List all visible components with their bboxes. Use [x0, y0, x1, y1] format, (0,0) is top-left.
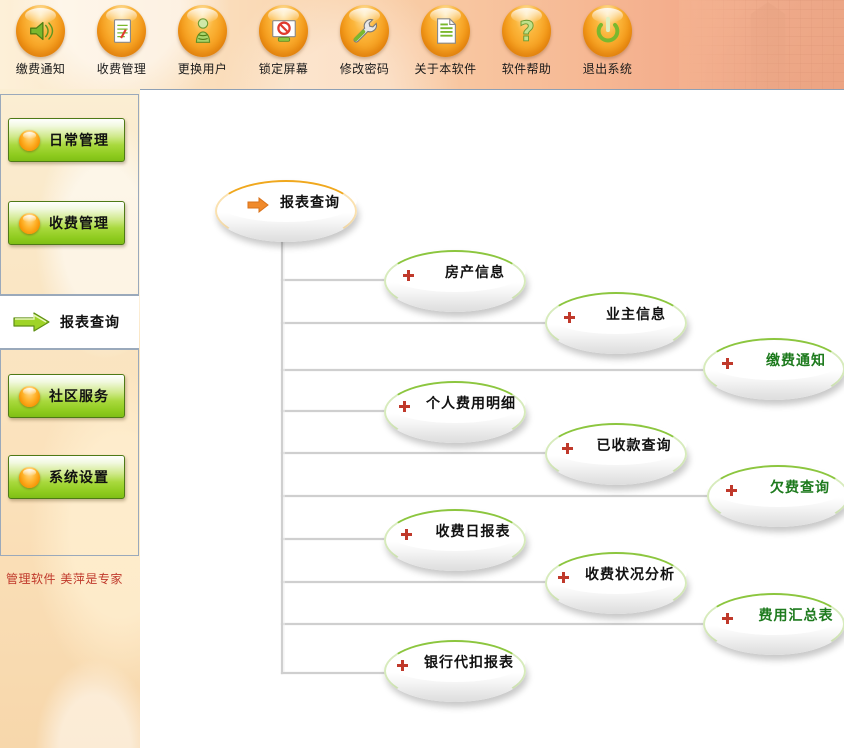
toolbar-button-payment-notice[interactable]: 缴费通知	[0, 0, 81, 89]
top-toolbar: 缴费通知 收费管理	[0, 0, 844, 89]
left-sidebar: 日常管理 收费管理 报表查询 社区服务 系统设置 管理软件 美萍是专家	[0, 89, 141, 748]
node-label: 个人费用明细	[384, 381, 542, 424]
sidebar-item-daily-management[interactable]: 日常管理	[8, 118, 125, 162]
toolbar-button-change-password[interactable]: 修改密码	[324, 0, 405, 89]
sidebar-item-label: 社区服务	[40, 386, 124, 406]
diagram-node-payment-notice[interactable]: 缴费通知	[703, 338, 844, 400]
node-label: 房产信息	[384, 250, 546, 293]
svg-text:?: ?	[519, 16, 535, 46]
toolbar-button-lock-screen[interactable]: 锁定屏幕	[243, 0, 324, 89]
node-label: 缴费通知	[703, 338, 844, 381]
node-label: 费用汇总表	[703, 593, 844, 636]
toolbar-button-switch-user[interactable]: 更换用户	[162, 0, 243, 89]
toolbar-label: 关于本软件	[414, 60, 476, 77]
diagram-canvas: 报表查询 房产信息 业主信息	[140, 90, 844, 748]
toolbar-label: 修改密码	[340, 60, 390, 77]
toolbar-label: 软件帮助	[502, 60, 552, 77]
sidebar-item-fee-management[interactable]: 收费管理	[8, 201, 125, 245]
diagram-node-daily-fee-report[interactable]: 收费日报表	[384, 509, 526, 571]
toolbar-label: 缴费通知	[16, 60, 66, 77]
diagram-node-personal-fee-detail[interactable]: 个人费用明细	[384, 381, 526, 443]
toolbar-label: 更换用户	[178, 60, 228, 77]
toolbar-button-fee-management[interactable]: 收费管理	[81, 0, 162, 89]
diagram-node-owner-info[interactable]: 业主信息	[545, 292, 687, 354]
toolbar-label: 锁定屏幕	[259, 60, 309, 77]
power-icon	[583, 5, 632, 57]
diagram-node-fee-status-analysis[interactable]: 收费状况分析	[545, 552, 687, 614]
sidebar-item-community-service[interactable]: 社区服务	[8, 374, 125, 418]
node-label: 已收款查询	[545, 423, 705, 466]
node-label: 业主信息	[545, 292, 707, 335]
node-label: 银行代扣报表	[384, 640, 540, 683]
application-window: 缴费通知 收费管理	[0, 0, 844, 748]
orange-bullet-icon	[19, 213, 40, 234]
diagram-node-root[interactable]: 报表查询	[215, 180, 357, 242]
sidebar-item-label: 收费管理	[40, 213, 124, 233]
question-mark-icon: ?	[502, 5, 551, 57]
wrench-icon	[340, 5, 389, 57]
diagram-node-bank-deduction-report[interactable]: 银行代扣报表	[384, 640, 526, 702]
sidebar-item-label: 系统设置	[40, 467, 124, 487]
node-label: 欠费查询	[707, 465, 844, 508]
sidebar-item-label: 报表查询	[60, 312, 120, 332]
about-document-icon	[421, 5, 470, 57]
green-arrow-icon	[12, 311, 52, 333]
sidebar-slogan: 管理软件 美萍是专家	[6, 570, 123, 587]
toolbar-button-about[interactable]: 关于本软件	[405, 0, 486, 89]
orange-bullet-icon	[19, 467, 40, 488]
node-label: 报表查询	[215, 180, 381, 223]
node-label: 收费状况分析	[545, 552, 701, 595]
user-switch-icon	[178, 5, 227, 57]
node-label: 收费日报表	[384, 509, 544, 552]
speaker-icon	[16, 5, 65, 57]
sidebar-item-system-settings[interactable]: 系统设置	[8, 455, 125, 499]
toolbar-button-help[interactable]: ? 软件帮助	[486, 0, 567, 89]
diagram-node-received-payment-query[interactable]: 已收款查询	[545, 423, 687, 485]
orange-bullet-icon	[19, 386, 40, 407]
orange-bullet-icon	[19, 130, 40, 151]
toolbar-button-row: 缴费通知 收费管理	[0, 0, 648, 89]
lock-screen-icon	[259, 5, 308, 57]
toolbar-label: 收费管理	[97, 60, 147, 77]
sidebar-item-report-query[interactable]: 报表查询	[0, 295, 139, 349]
diagram-node-fee-summary-table[interactable]: 费用汇总表	[703, 593, 844, 655]
diagram-node-arrears-query[interactable]: 欠费查询	[707, 465, 844, 527]
diagram-node-property-info[interactable]: 房产信息	[384, 250, 526, 312]
toolbar-button-exit[interactable]: 退出系统	[567, 0, 648, 89]
building-photo-decoration	[679, 0, 844, 89]
toolbar-label: 退出系统	[583, 60, 633, 77]
sidebar-item-label: 日常管理	[40, 130, 124, 150]
document-pen-icon	[97, 5, 146, 57]
main-content-panel: 报表查询 房产信息 业主信息	[140, 89, 844, 748]
